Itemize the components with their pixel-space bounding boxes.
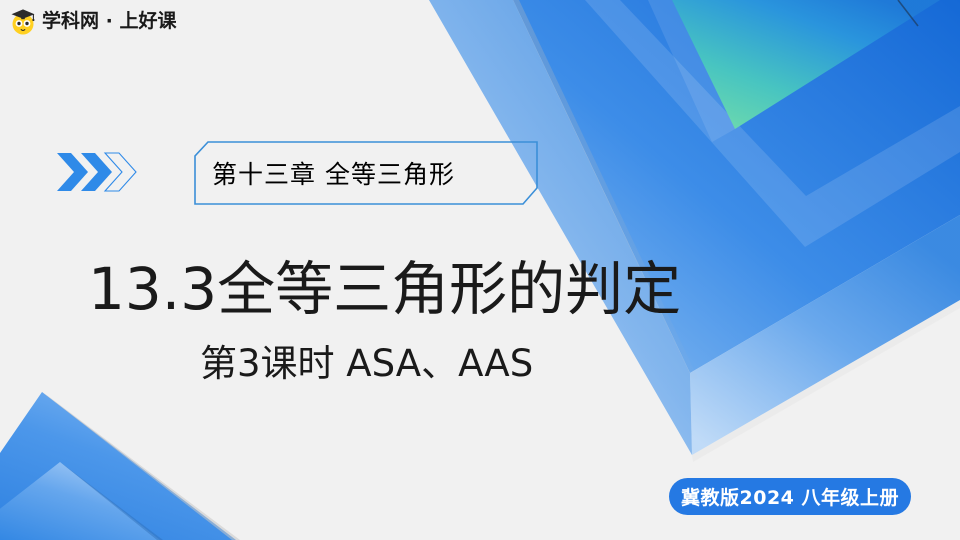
corner-ribbon-middle [429, 0, 960, 455]
edition-badge: 冀教版2024 八年级上册 [669, 478, 911, 515]
brand-logo: 学科网 · 上好课 [8, 6, 176, 36]
main-title: 13.3全等三角形的判定 [88, 258, 681, 322]
title-slide: 学科网 · 上好课 第十三章 全等三角形 13.3全等三角形的判定 第3课时 A… [0, 0, 960, 540]
edition-badge-label: 冀教版2024 八年级上册 [681, 483, 899, 510]
corner-ribbon-outer [445, 0, 960, 455]
chapter-banner: 第十三章 全等三角形 [194, 141, 538, 205]
teal-wedge [648, 0, 940, 142]
logo-text: 学科网 · 上好课 [42, 12, 176, 31]
triple-chevron-arrows [55, 149, 147, 195]
chevron-filled-1 [57, 153, 88, 191]
triangle-inner [0, 462, 163, 540]
xkw-owl-mascot-icon [8, 6, 38, 36]
triangle-outer [0, 392, 240, 540]
chapter-label: 第十三章 全等三角形 [194, 141, 538, 205]
sub-title: 第3课时 ASA、AAS [200, 344, 533, 385]
hairline-accent [898, 0, 918, 26]
ribbon-edge-shadow [513, 0, 960, 462]
corner-ribbon-inner [585, 0, 960, 247]
